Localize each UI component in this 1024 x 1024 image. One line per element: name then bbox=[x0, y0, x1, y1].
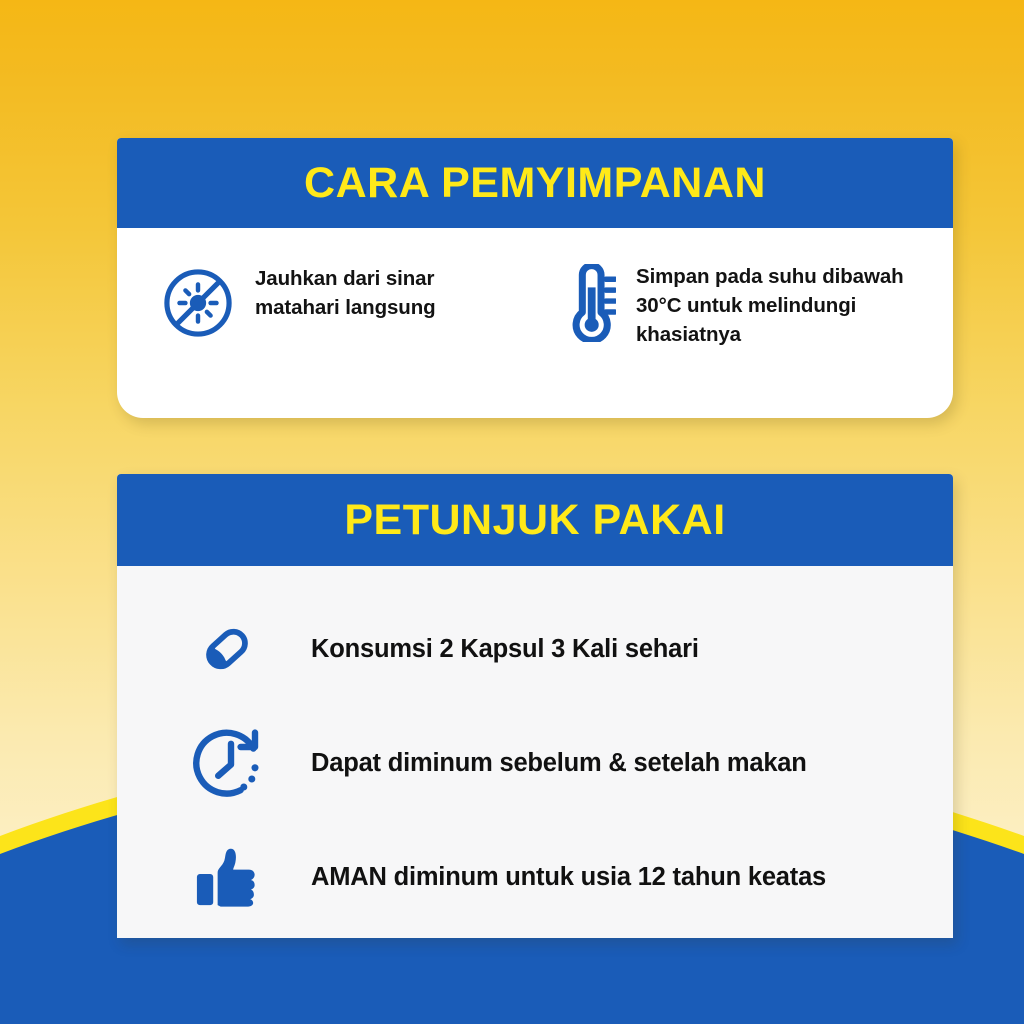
capsule-icon bbox=[191, 613, 287, 685]
usage-item-timing-label: Dapat diminum sebelum & setelah makan bbox=[311, 749, 807, 778]
usage-card-body: Konsumsi 2 Kapsul 3 Kali sehari bbox=[117, 566, 953, 934]
thermometer-icon bbox=[558, 264, 616, 342]
storage-card-title: CARA PEMYIMPANAN bbox=[117, 138, 953, 228]
usage-item-dosage-label: Konsumsi 2 Kapsul 3 Kali sehari bbox=[311, 635, 699, 664]
thumbs-up-icon bbox=[191, 840, 287, 914]
storage-item-sunlight: Jauhkan dari sinar matahari langsung bbox=[161, 262, 518, 349]
poster-canvas: CARA PEMYIMPANAN bbox=[0, 0, 1024, 1024]
storage-item-sunlight-label: Jauhkan dari sinar matahari langsung bbox=[255, 262, 518, 322]
storage-item-temperature-label: Simpan pada suhu dibawah 30°C untuk meli… bbox=[636, 262, 909, 349]
storage-card: CARA PEMYIMPANAN bbox=[117, 138, 953, 418]
usage-item-timing: Dapat diminum sebelum & setelah makan bbox=[117, 706, 953, 820]
usage-item-dosage: Konsumsi 2 Kapsul 3 Kali sehari bbox=[117, 592, 953, 706]
clock-icon bbox=[191, 723, 287, 803]
no-direct-sunlight-icon bbox=[161, 266, 235, 340]
storage-card-body: Jauhkan dari sinar matahari langsung bbox=[117, 228, 953, 349]
usage-card-title: PETUNJUK PAKAI bbox=[117, 474, 953, 566]
usage-item-age-safety-label: AMAN diminum untuk usia 12 tahun keatas bbox=[311, 863, 826, 892]
storage-item-temperature: Simpan pada suhu dibawah 30°C untuk meli… bbox=[552, 262, 909, 349]
usage-card: PETUNJUK PAKAI Konsumsi 2 Kapsul 3 Kali … bbox=[117, 474, 953, 938]
usage-item-age-safety: AMAN diminum untuk usia 12 tahun keatas bbox=[117, 820, 953, 934]
